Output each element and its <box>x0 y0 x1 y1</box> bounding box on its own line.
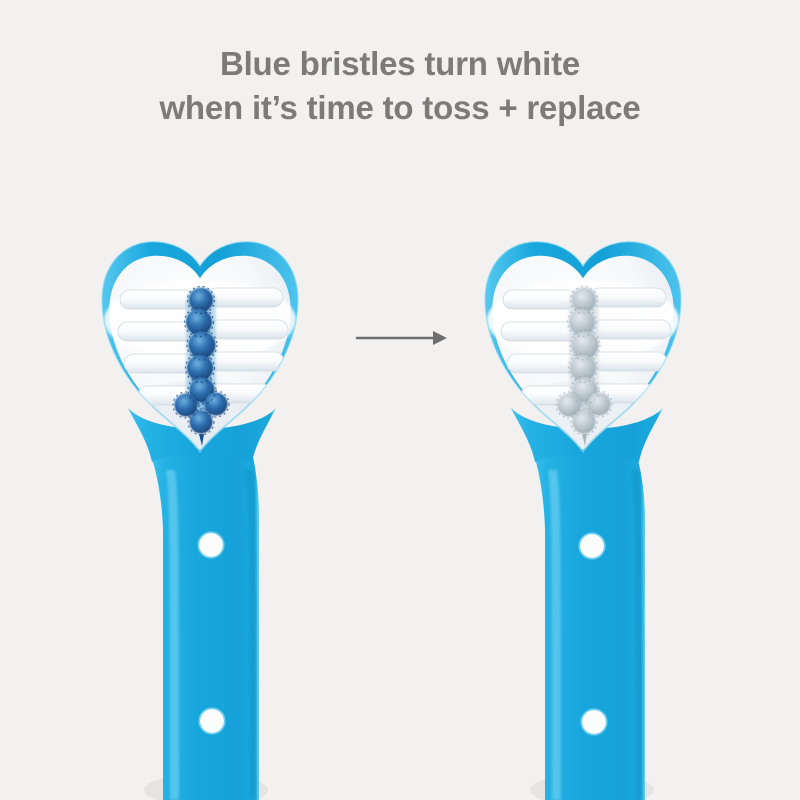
arrow-head-icon <box>433 331 447 345</box>
grip-hole <box>582 710 606 734</box>
handle-before <box>150 452 259 800</box>
toothbrush-before <box>102 242 298 800</box>
right-arrow <box>357 331 447 345</box>
toothbrush-comparison-illustration <box>0 0 800 800</box>
grip-hole <box>580 534 604 558</box>
product-infographic: Blue bristles turn white when it’s time … <box>0 0 800 800</box>
handle-after <box>533 452 645 800</box>
grip-hole <box>199 533 223 557</box>
grip-hole <box>200 709 224 733</box>
toothbrush-after <box>485 242 681 800</box>
